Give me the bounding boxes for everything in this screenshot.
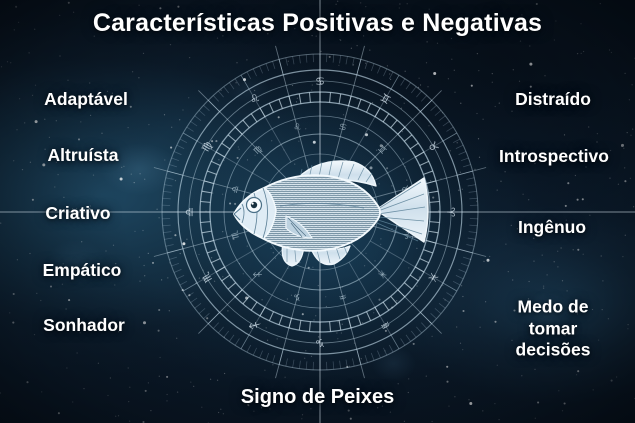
caption-signo: Signo de Peixes (0, 386, 635, 409)
pisces-traits-infographic: ♋♊♉♈♓♒♑♐♏♎♍♌ ♋♊♉♈♓♒♑♐♏♎♍♌ (0, 0, 635, 423)
svg-text:♎: ♎ (183, 207, 196, 217)
trait-negative_traits-0: Distraído (515, 89, 591, 111)
svg-text:♑: ♑ (315, 336, 325, 349)
svg-text:♈: ♈ (444, 207, 457, 217)
trait-positive_traits-4: Sonhador (43, 315, 125, 337)
trait-positive_traits-0: Adaptável (44, 89, 128, 111)
trait-negative_traits-1: Introspectivo (499, 146, 609, 168)
trait-positive_traits-2: Criativo (45, 203, 110, 225)
zodiac-wheel: ♋♊♉♈♓♒♑♐♏♎♍♌ ♋♊♉♈♓♒♑♐♏♎♍♌ (150, 42, 490, 382)
trait-negative_traits-3: Medo de tomar decisões (516, 296, 591, 361)
trait-positive_traits-1: Altruísta (48, 145, 119, 167)
trait-negative_traits-2: Ingênuo (518, 217, 586, 239)
page-title: Características Positivas e Negativas (0, 9, 635, 38)
svg-text:♋: ♋ (315, 75, 325, 88)
trait-positive_traits-3: Empático (43, 260, 122, 282)
